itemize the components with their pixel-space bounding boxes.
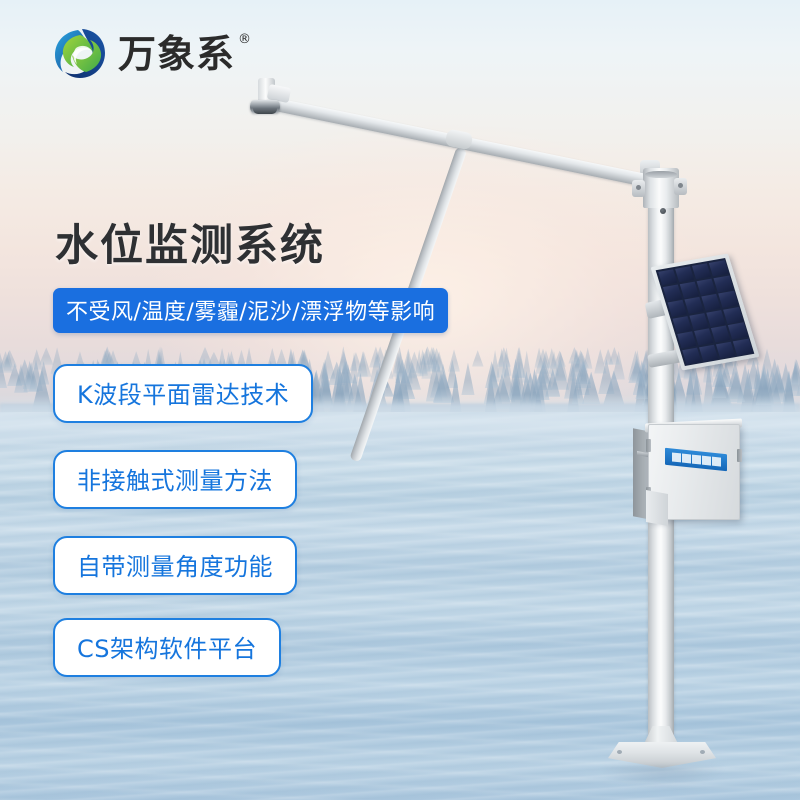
cabinet-label-glyph — [682, 453, 691, 463]
feature-pill-1[interactable]: K波段平面雷达技术 — [53, 364, 313, 423]
cabinet-label-glyph — [672, 452, 681, 462]
base-plate — [608, 742, 716, 768]
poster-canvas: 万象系 ® 水位监测系统 不受风/温度/雾霾/泥沙/漂浮物等影响 K波段平面雷达… — [0, 0, 800, 800]
base-water-reflection — [600, 766, 724, 788]
cabinet-label-glyph — [702, 456, 711, 466]
solar-cell — [733, 338, 753, 355]
radar-sensor-icon — [250, 100, 280, 113]
brand-wordmark: 万象系 ® — [118, 35, 235, 73]
page-title: 水位监测系统 — [55, 211, 325, 273]
registered-trademark-icon: ® — [238, 33, 252, 46]
cabinet-hinge — [646, 439, 651, 452]
cabinet-label-glyph — [692, 455, 701, 465]
globe-swirl-logo-icon — [52, 26, 108, 82]
brand-logo[interactable]: 万象系 ® — [52, 26, 235, 82]
cabinet-door-edge — [646, 490, 668, 526]
brand-wordmark-text: 万象系 — [118, 32, 235, 76]
solar-cell — [713, 275, 733, 292]
brace-top-joint — [445, 129, 474, 151]
feature-pill-2[interactable]: 非接触式测量方法 — [53, 450, 297, 509]
feature-pill-4[interactable]: CS架构软件平台 — [53, 618, 281, 677]
cabinet-label-plate — [665, 448, 727, 472]
mast-bolt — [660, 208, 666, 214]
base-bolt-hole — [617, 750, 622, 754]
arm-clamp-right — [674, 178, 687, 195]
solar-cell — [718, 291, 738, 308]
headline-ribbon: 不受风/温度/雾霾/泥沙/漂浮物等影响 — [53, 288, 448, 333]
solar-cell — [728, 323, 748, 340]
base-bolt-hole — [700, 750, 705, 754]
feature-pill-3[interactable]: 自带测量角度功能 — [53, 536, 297, 595]
cabinet-label-glyph — [712, 457, 721, 467]
solar-cell — [709, 260, 729, 277]
cabinet-latch — [737, 449, 742, 462]
arm-clamp-left — [632, 180, 645, 197]
solar-cell — [723, 307, 743, 324]
